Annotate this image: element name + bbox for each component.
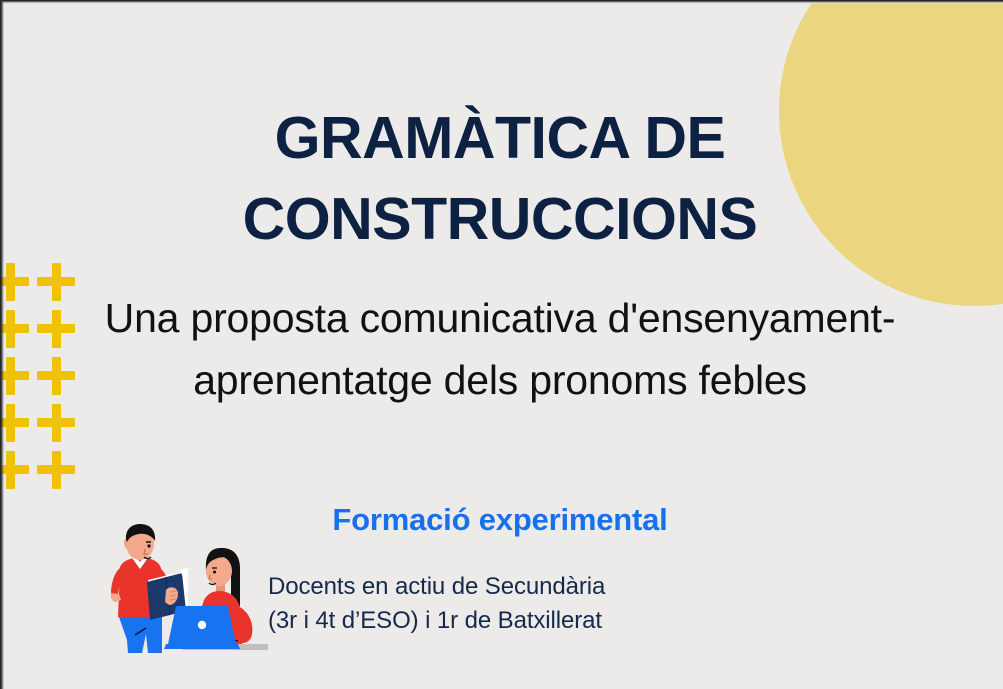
page-title: GRAMÀTICA DE CONSTRUCCIONS <box>120 98 880 261</box>
plus-icon <box>37 357 75 395</box>
laptop-logo-icon <box>198 621 206 629</box>
plus-icon <box>0 451 29 489</box>
man-trousers <box>119 617 162 653</box>
plus-icon <box>0 310 29 348</box>
plus-icon <box>37 310 75 348</box>
yellow-plus-grid-decoration <box>0 263 91 483</box>
page-subtitle: Una proposta comunicativa d'ensenyament-… <box>80 288 920 411</box>
plus-icon <box>0 357 29 395</box>
plus-icon <box>37 404 75 442</box>
two-teachers-illustration <box>88 522 268 670</box>
man-eye <box>147 544 150 547</box>
plus-icon <box>37 263 75 301</box>
woman-eye <box>213 571 216 574</box>
plus-icon <box>0 263 29 301</box>
audience-line-1: Docents en actiu de Secundària <box>268 570 828 604</box>
presentation-slide: GRAMÀTICA DE CONSTRUCCIONS Una proposta … <box>0 0 1003 689</box>
audience-description: Docents en actiu de Secundària (3r i 4t … <box>268 570 828 638</box>
audience-line-2: (3r i 4t d’ESO) i 1r de Batxillerat <box>268 604 828 638</box>
plus-icon <box>37 451 75 489</box>
laptop-base <box>164 644 240 649</box>
plus-icon <box>0 404 29 442</box>
